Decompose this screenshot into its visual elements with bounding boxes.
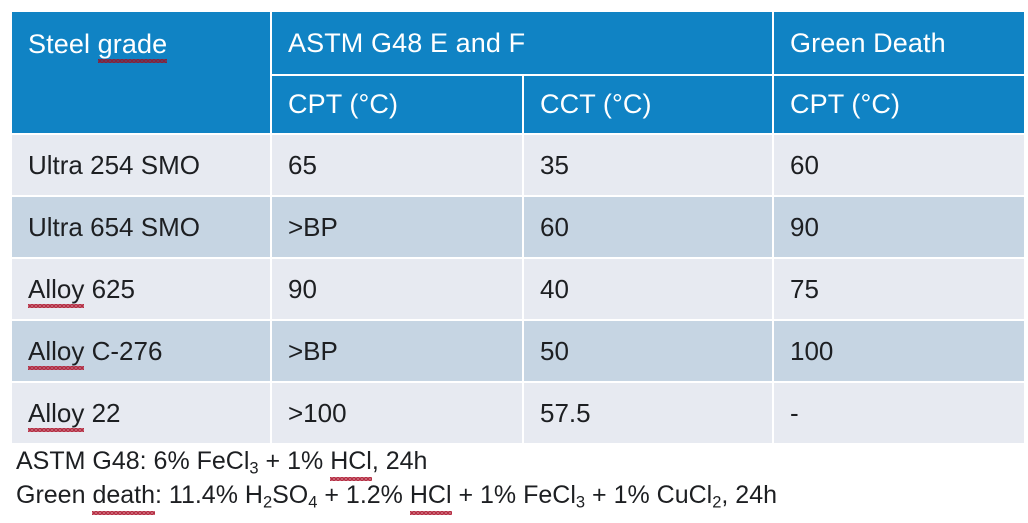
footnote-astm-part2: + 1% (259, 447, 331, 475)
cell-green-death-cpt: 90 (774, 197, 1024, 257)
cell-astm-cct: 60 (524, 197, 772, 257)
grade-text: 625 (84, 274, 135, 304)
footnote-gd-part5: + 1% CuCl (585, 481, 712, 509)
cell-astm-cpt: >BP (272, 197, 522, 257)
header-green-death-cpt: CPT (°C) (774, 76, 1024, 133)
grade-misspelled-word: Alloy (28, 398, 84, 429)
grade-misspelled-word: Alloy (28, 336, 84, 367)
cell-astm-cpt: >100 (272, 383, 522, 443)
footnote-gd-label-tail: : (155, 481, 169, 509)
footnote-gd-sub3: 3 (576, 493, 585, 511)
cell-astm-cct: 50 (524, 321, 772, 381)
cell-steel-grade: Alloy 22 (12, 383, 270, 443)
footnote-green-death: Green death: 11.4% H2SO4 + 1.2% HCl + 1%… (16, 478, 1016, 512)
footnote-astm-part3: , 24h (372, 447, 428, 475)
footnote-gd-part2: SO (272, 481, 308, 509)
footnote-gd-part4: + 1% FeCl (452, 481, 576, 509)
cell-steel-grade: Ultra 654 SMO (12, 197, 270, 257)
cell-steel-grade: Ultra 254 SMO (12, 135, 270, 195)
footnote-astm-label: ASTM G48: (16, 447, 154, 475)
cell-steel-grade: Alloy C-276 (12, 321, 270, 381)
grade-text: C-276 (84, 336, 162, 366)
footnote-gd-misspelled-death: death (92, 478, 155, 512)
table-row: Alloy C-276 >BP 50 100 (12, 321, 1024, 381)
header-group-astm-g48: ASTM G48 E and F (272, 12, 772, 74)
header-steel-grade-prefix: Steel (28, 29, 98, 59)
footnote-astm-part1: 6% FeCl (154, 447, 250, 475)
cell-green-death-cpt: 60 (774, 135, 1024, 195)
footnote-astm-g48: ASTM G48: 6% FeCl3 + 1% HCl, 24h (16, 444, 1016, 478)
cell-green-death-cpt: 100 (774, 321, 1024, 381)
cell-green-death-cpt: 75 (774, 259, 1024, 319)
cell-astm-cpt: >BP (272, 321, 522, 381)
steel-grade-table: Steel grade ASTM G48 E and F Green Death… (10, 10, 1026, 445)
header-row-top: Steel grade ASTM G48 E and F Green Death (12, 12, 1024, 74)
grade-misspelled-word: Alloy (28, 274, 84, 305)
table-row: Ultra 654 SMO >BP 60 90 (12, 197, 1024, 257)
footnote-gd-part1: 11.4% H (169, 481, 263, 509)
footnotes: ASTM G48: 6% FeCl3 + 1% HCl, 24h Green d… (16, 444, 1016, 512)
header-astm-cpt: CPT (°C) (272, 76, 522, 133)
header-steel-grade-misspelled: grade (98, 29, 168, 60)
footnote-astm-misspelled-hcl: HCl (330, 444, 372, 478)
cell-astm-cpt: 90 (272, 259, 522, 319)
cell-astm-cct: 57.5 (524, 383, 772, 443)
grade-text: Ultra 654 SMO (28, 212, 200, 242)
cell-astm-cpt: 65 (272, 135, 522, 195)
table-row: Ultra 254 SMO 65 35 60 (12, 135, 1024, 195)
header-astm-cct: CCT (°C) (524, 76, 772, 133)
table-header: Steel grade ASTM G48 E and F Green Death… (12, 12, 1024, 133)
grade-text: Ultra 254 SMO (28, 150, 200, 180)
table-body: Ultra 254 SMO 65 35 60 Ultra 654 SMO >BP… (12, 135, 1024, 443)
table-row: Alloy 22 >100 57.5 - (12, 383, 1024, 443)
table-row: Alloy 625 90 40 75 (12, 259, 1024, 319)
footnote-gd-part3: + 1.2% (317, 481, 409, 509)
cell-steel-grade: Alloy 625 (12, 259, 270, 319)
footnote-gd-misspelled-hcl: HCl (410, 478, 452, 512)
footnote-gd-sub1: 2 (263, 493, 272, 511)
cell-green-death-cpt: - (774, 383, 1024, 443)
cell-astm-cct: 40 (524, 259, 772, 319)
header-steel-grade: Steel grade (12, 12, 270, 133)
footnote-gd-part6: , 24h (721, 481, 777, 509)
cell-astm-cct: 35 (524, 135, 772, 195)
steel-grade-table-container: Steel grade ASTM G48 E and F Green Death… (10, 10, 1020, 435)
header-group-green-death: Green Death (774, 12, 1024, 74)
footnote-gd-label: Green (16, 481, 92, 509)
footnote-astm-sub1: 3 (249, 459, 258, 477)
grade-text: 22 (84, 398, 120, 428)
